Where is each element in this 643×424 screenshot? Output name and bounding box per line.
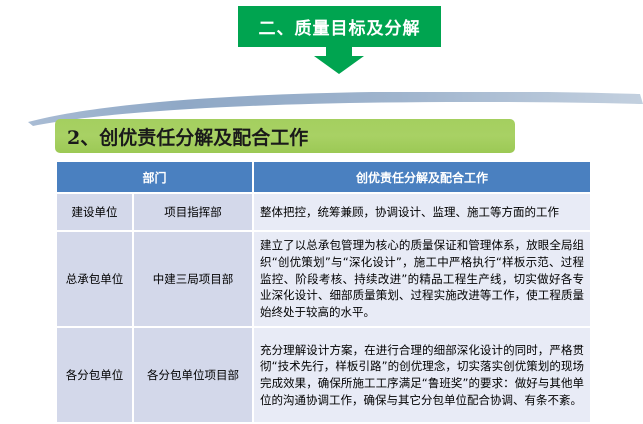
subsection-title-bar: 2、创优责任分解及配合工作 [55, 119, 515, 153]
responsibility-table: 部门 创优责任分解及配合工作 建设单位 项目指挥部 整体把控，统筹兼顾，协调设计… [55, 160, 592, 424]
column-header-desc: 创优责任分解及配合工作 [254, 162, 590, 192]
table-body: 建设单位 项目指挥部 整体把控，统筹兼顾，协调设计、监理、施工等方面的工作 总承… [57, 194, 590, 422]
cell-subdept: 各分包单位项目部 [134, 328, 252, 422]
cell-subdept: 中建三局项目部 [134, 232, 252, 326]
cell-dept: 建设单位 [57, 194, 132, 230]
cell-subdept: 项目指挥部 [134, 194, 252, 230]
table-row: 各分包单位 各分包单位项目部 充分理解设计方案，在进行合理的细部深化设计的同时，… [57, 328, 590, 422]
arrow-down-icon [304, 47, 374, 75]
subsection-title-text: 2、创优责任分解及配合工作 [67, 123, 308, 150]
table-header: 部门 创优责任分解及配合工作 [57, 162, 590, 192]
cell-description: 整体把控，统筹兼顾，协调设计、监理、施工等方面的工作 [254, 194, 590, 230]
table-row: 总承包单位 中建三局项目部 建立了以总承包管理为核心的质量保证和管理体系，放眼全… [57, 232, 590, 326]
section-banner-title: 二、质量目标及分解 [259, 14, 421, 39]
table-row: 建设单位 项目指挥部 整体把控，统筹兼顾，协调设计、监理、施工等方面的工作 [57, 194, 590, 230]
table-header-row: 部门 创优责任分解及配合工作 [57, 162, 590, 192]
cell-description: 充分理解设计方案，在进行合理的细部深化设计的同时，严格贯彻“技术先行，样板引路”… [254, 328, 590, 422]
cell-dept: 各分包单位 [57, 328, 132, 422]
cell-description: 建立了以总承包管理为核心的质量保证和管理体系，放眼全局组织“创优策划”与“深化设… [254, 232, 590, 326]
column-header-dept: 部门 [57, 162, 252, 192]
cell-dept: 总承包单位 [57, 232, 132, 326]
section-banner: 二、质量目标及分解 [238, 6, 441, 47]
